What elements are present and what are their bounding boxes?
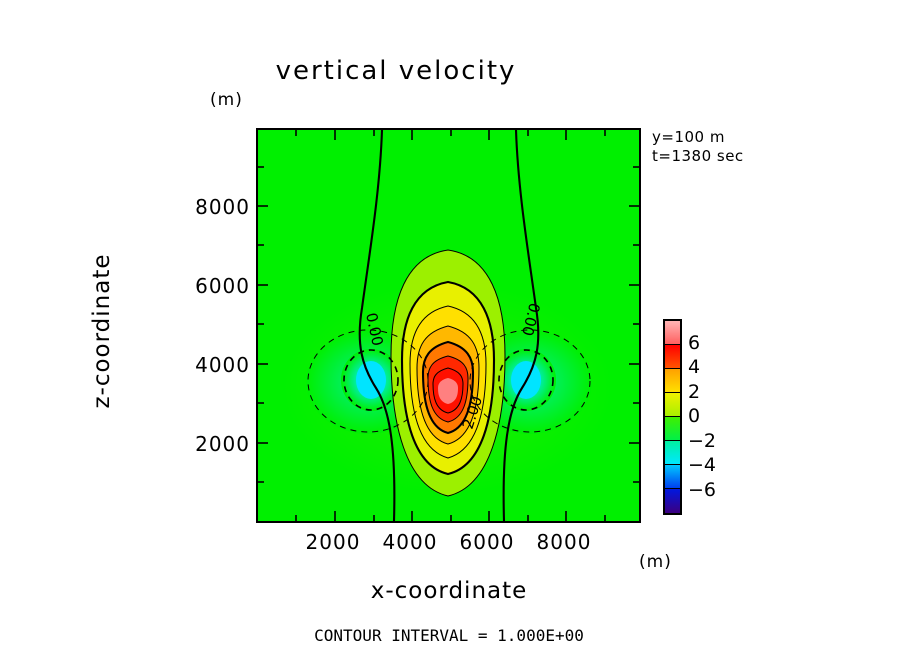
colorbar-tick-label: 2 bbox=[688, 381, 700, 403]
colorbar-band bbox=[665, 393, 680, 417]
y-units-label: (m) bbox=[210, 90, 243, 110]
contour-plot[interactable]: 0.00 0.00 2.00 bbox=[256, 128, 641, 523]
colorbar-band bbox=[665, 465, 680, 489]
x-tick-label: 4000 bbox=[383, 530, 438, 554]
colorbar-band bbox=[665, 369, 680, 393]
y-tick-label: 2000 bbox=[178, 432, 250, 456]
y-tick-label: 8000 bbox=[178, 195, 250, 219]
y-axis-title: z-coordinate bbox=[89, 215, 115, 447]
x-tick-label: 8000 bbox=[537, 530, 592, 554]
colorbar-tick-label: −6 bbox=[688, 479, 716, 501]
colorbar-band bbox=[665, 489, 680, 513]
x-axis-title: x-coordinate bbox=[256, 578, 642, 604]
colorbar[interactable] bbox=[663, 319, 682, 515]
colorbar-band bbox=[665, 417, 680, 441]
colorbar-tick-label: 4 bbox=[688, 356, 700, 378]
colorbar-band bbox=[665, 345, 680, 369]
page-title: vertical velocity bbox=[0, 56, 904, 86]
colorbar-band bbox=[665, 321, 680, 345]
x-tick-label: 6000 bbox=[460, 530, 515, 554]
page-title-text: vertical velocity bbox=[276, 56, 517, 86]
colorbar-band bbox=[665, 441, 680, 465]
figure-canvas: vertical velocity (m) (m) x-coordinate z… bbox=[0, 0, 904, 654]
colorbar-tick-label: 0 bbox=[688, 405, 700, 427]
annotation-time: t=1380 sec bbox=[652, 147, 744, 166]
y-tick-label: 6000 bbox=[178, 274, 250, 298]
y-tick-label: 4000 bbox=[178, 353, 250, 377]
colorbar-tick-label: −4 bbox=[688, 454, 716, 476]
contour-interval-caption: CONTOUR INTERVAL = 1.000E+00 bbox=[256, 626, 642, 645]
colorbar-tick-label: 6 bbox=[688, 332, 700, 354]
colorbar-tick-label: −2 bbox=[688, 430, 716, 452]
plot-annotations: y=100 m t=1380 sec bbox=[652, 128, 744, 166]
annotation-slice: y=100 m bbox=[652, 128, 744, 147]
x-units-label: (m) bbox=[639, 552, 672, 572]
x-tick-label: 2000 bbox=[306, 530, 361, 554]
